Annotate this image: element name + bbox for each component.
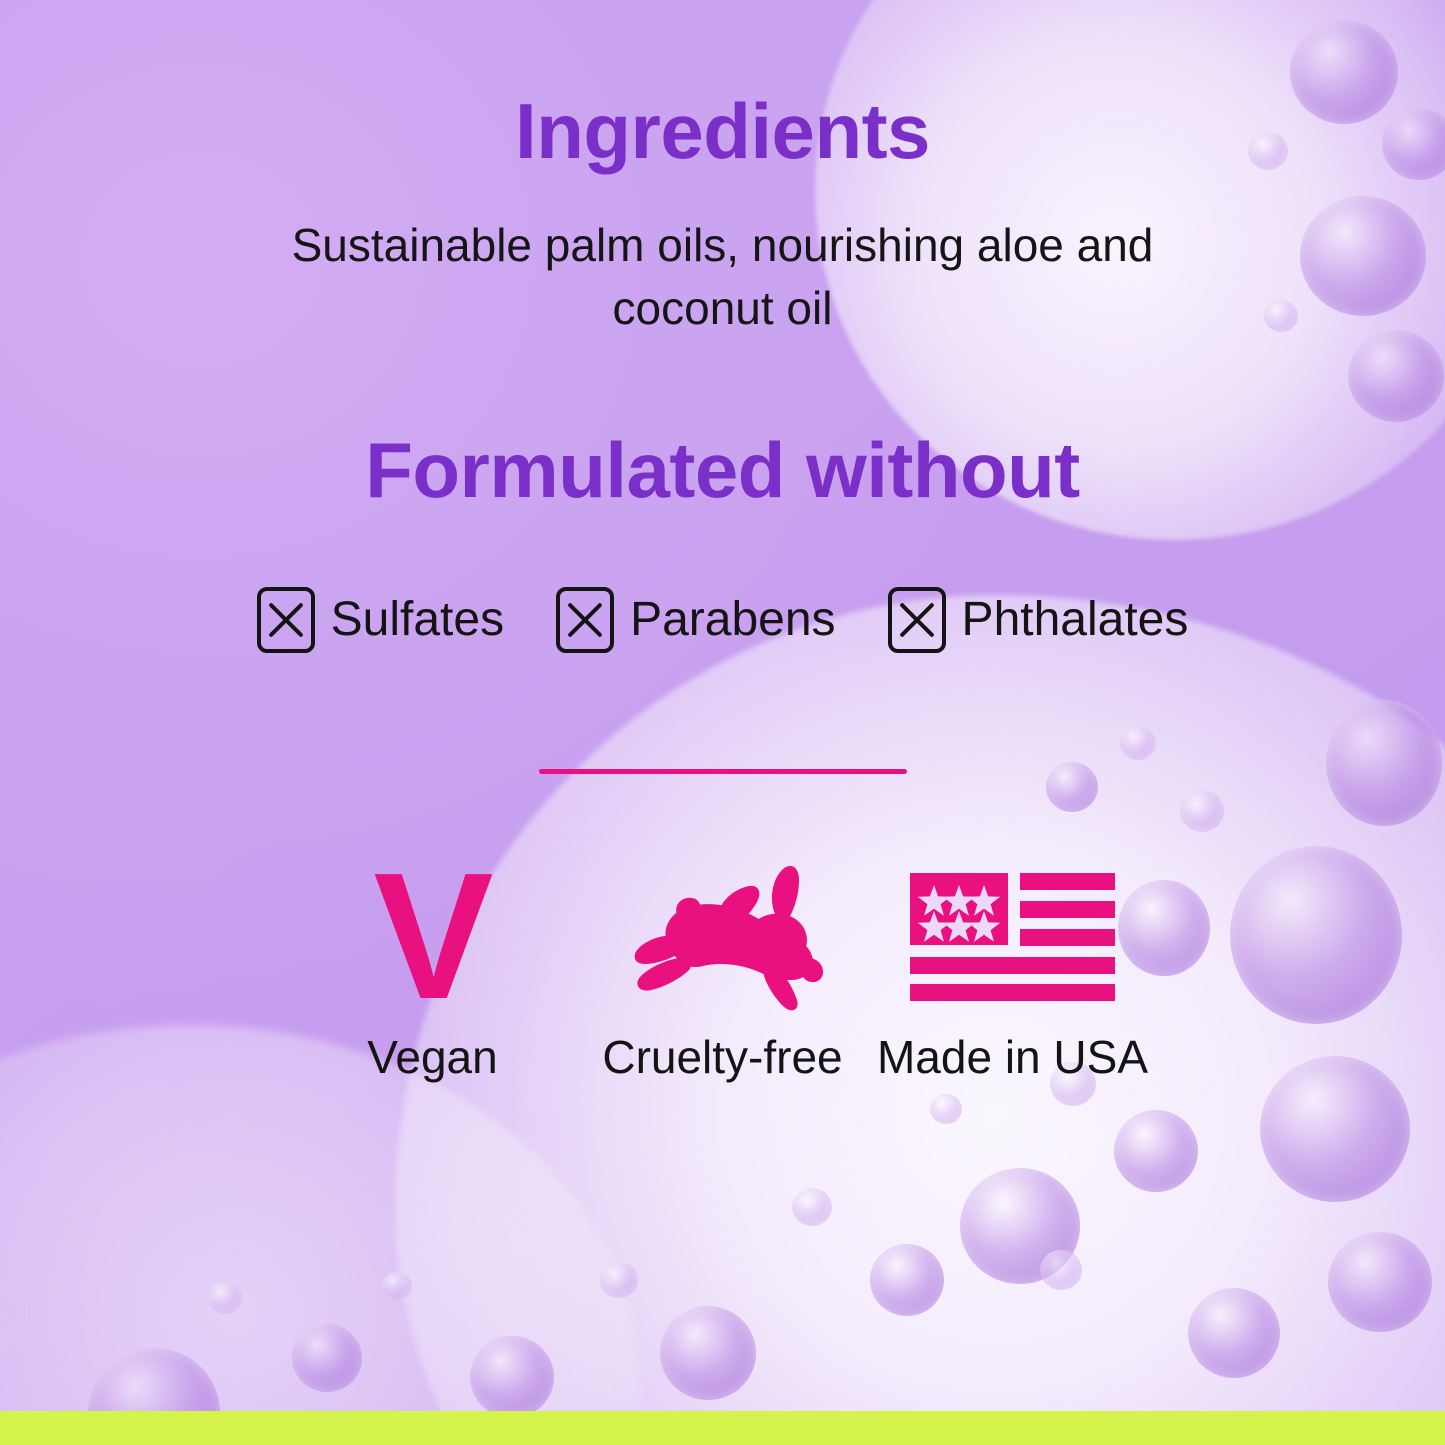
exclusions-list: Sulfates Parabens Phthalates [257,587,1189,653]
exclusion-label: Phthalates [962,596,1189,644]
badge-label: Made in USA [877,1034,1148,1080]
ingredients-heading: Ingredients [515,92,930,170]
poster-content: Ingredients Sustainable palm oils, nouri… [0,0,1445,1445]
ingredients-infographic: Ingredients Sustainable palm oils, nouri… [0,0,1445,1445]
vegan-v-icon: V [373,867,491,1007]
badge-made-in-usa: Made in USA [868,862,1158,1080]
badge-label: Cruelty-free [602,1034,842,1080]
exclusion-label: Sulfates [331,596,504,644]
section-divider [539,769,907,774]
badge-cruelty-free: Cruelty-free [578,862,868,1080]
badge-art [607,862,839,1012]
badge-art: V [373,862,491,1012]
exclusion-item-parabens: Parabens [556,587,835,653]
badges-row: V Vegan [288,862,1158,1080]
ingredients-description: Sustainable palm oils, nourishing aloe a… [233,214,1213,341]
x-checkbox-icon [257,587,315,653]
exclusion-item-sulfates: Sulfates [257,587,504,653]
badge-vegan: V Vegan [288,862,578,1080]
badge-art [910,862,1115,1012]
formulated-without-heading: Formulated without [365,431,1080,509]
usa-flag-icon [910,873,1115,1001]
badge-label: Vegan [367,1034,497,1080]
rabbit-icon [607,862,839,1012]
exclusion-label: Parabens [630,596,835,644]
x-checkbox-icon [888,587,946,653]
exclusion-item-phthalates: Phthalates [888,587,1189,653]
x-checkbox-icon [556,587,614,653]
